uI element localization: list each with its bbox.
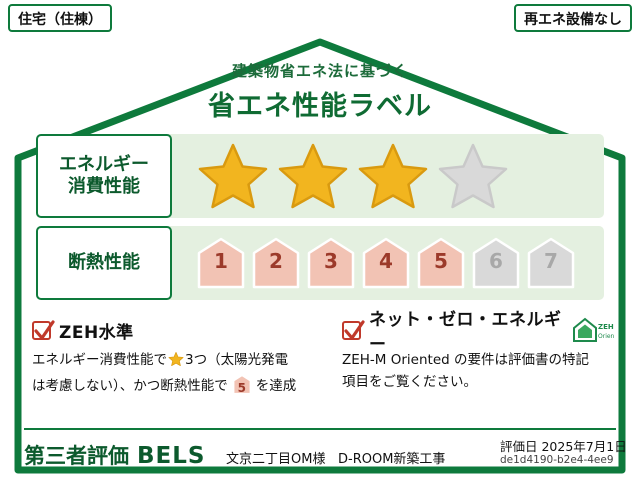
- insulation-grade-3-number: 3: [306, 249, 356, 273]
- insulation-grade-2: 2: [251, 237, 301, 289]
- zeh-heading-row: ZEH水準: [32, 318, 332, 342]
- bels-mark: BELS: [137, 443, 205, 469]
- insulation-grade-7-number: 7: [526, 249, 576, 273]
- star-rating: [196, 134, 510, 218]
- insulation-grade-2-number: 2: [251, 249, 301, 273]
- energy-label-line1: エネルギー: [59, 154, 149, 177]
- owner-name: 文京二丁目OM様: [226, 448, 325, 467]
- footer-divider: [24, 428, 616, 430]
- zeh-body-part3: は考慮しない）、かつ断熱性能で: [32, 378, 228, 394]
- netzero-body: ZEH-M Oriented の要件は評価書の特記 項目をご覧ください。: [342, 350, 614, 394]
- building-type-tag: 住宅（住棟）: [8, 4, 112, 32]
- zeh-body: エネルギー消費性能で3つ（太陽光発電 は考慮しない）、かつ断熱性能で5を達成: [32, 350, 332, 398]
- house-inner-content: 建築物省エネ法に基づく 省エネ性能ラベル エネルギー 消費性能: [8, 36, 632, 476]
- checkbox-checked-icon: [32, 321, 51, 340]
- insulation-grade-4-number: 4: [361, 249, 411, 273]
- insulation-grade-1-number: 1: [196, 249, 246, 273]
- svg-text:Oriented: Oriented: [598, 333, 614, 340]
- zeh-body-part4: を達成: [256, 378, 297, 394]
- label-title: 省エネ性能ラベル: [8, 84, 632, 123]
- netzero-heading-row: ネット・ゼロ・エネルギー ZEH Oriented: [342, 318, 614, 342]
- inline-star-icon: [168, 351, 184, 375]
- bels-box: 第三者評価 BELS: [24, 440, 205, 470]
- netzero-heading: ネット・ゼロ・エネルギー: [369, 305, 562, 355]
- insulation-performance-panel: 断熱性能 1 2 3: [36, 226, 604, 300]
- insulation-grade-4: 4: [361, 237, 411, 289]
- energy-performance-panel: エネルギー 消費性能: [36, 134, 604, 218]
- zeh-heading: ZEH水準: [59, 318, 134, 343]
- tag-row: 住宅（住棟） 再エネ設備なし: [8, 4, 632, 34]
- star-icon-1: [196, 141, 270, 211]
- evaluation-id: de1d4190-b2e4-4ee9: [500, 454, 614, 466]
- bels-title: 第三者評価: [24, 440, 129, 470]
- footer: 第三者評価 BELS 文京二丁目OM様 D-ROOM新築工事 評価日 2025年…: [8, 428, 632, 476]
- insulation-grade-6: 6: [471, 237, 521, 289]
- netzero-body-line2: 項目をご覧ください。: [342, 372, 614, 394]
- zeh-block: ZEH水準 エネルギー消費性能で3つ（太陽光発電 は考慮しない）、かつ断熱性能で…: [32, 318, 332, 398]
- insulation-grade-scale: 1 2 3 4 5: [196, 226, 576, 300]
- insulation-grade-7: 7: [526, 237, 576, 289]
- insulation-grade-6-number: 6: [471, 249, 521, 273]
- zeh-body-part1: エネルギー消費性能で: [32, 352, 167, 368]
- inline-grade-number: 5: [230, 379, 254, 398]
- zeh-oriented-logo-icon: ZEH Oriented: [570, 316, 614, 344]
- netzero-block: ネット・ゼロ・エネルギー ZEH Oriented ZEH-M Oriented…: [342, 318, 614, 394]
- insulation-grade-5-number: 5: [416, 249, 466, 273]
- insulation-performance-label: 断熱性能: [36, 226, 172, 300]
- star-icon-2: [276, 141, 350, 211]
- zeh-body-part2: 3つ（太陽光発電: [185, 352, 288, 368]
- energy-label-line2: 消費性能: [68, 176, 140, 199]
- netzero-body-line1: ZEH-M Oriented の要件は評価書の特記: [342, 350, 614, 372]
- label-subtitle: 建築物省エネ法に基づく: [8, 60, 632, 81]
- project-name: D-ROOM新築工事: [338, 448, 445, 467]
- energy-performance-label: エネルギー 消費性能: [36, 134, 172, 218]
- inline-grade-icon: 5: [230, 375, 254, 394]
- evaluation-date: 評価日 2025年7月1日: [500, 436, 627, 455]
- insulation-label-text: 断熱性能: [68, 252, 140, 275]
- energy-performance-label-card: 住宅（住棟） 再エネ設備なし 建築物省エネ法に基づく 省エネ性能ラベル エネルギ…: [8, 4, 632, 476]
- insulation-grade-1: 1: [196, 237, 246, 289]
- star-icon-4: [436, 141, 510, 211]
- insulation-grade-5: 5: [416, 237, 466, 289]
- svg-text:ZEH: ZEH: [598, 323, 614, 331]
- house-outline: 建築物省エネ法に基づく 省エネ性能ラベル エネルギー 消費性能: [8, 36, 632, 476]
- renewable-energy-tag: 再エネ設備なし: [514, 4, 632, 32]
- star-icon-3: [356, 141, 430, 211]
- checkbox-checked-icon-2: [342, 321, 361, 340]
- insulation-grade-3: 3: [306, 237, 356, 289]
